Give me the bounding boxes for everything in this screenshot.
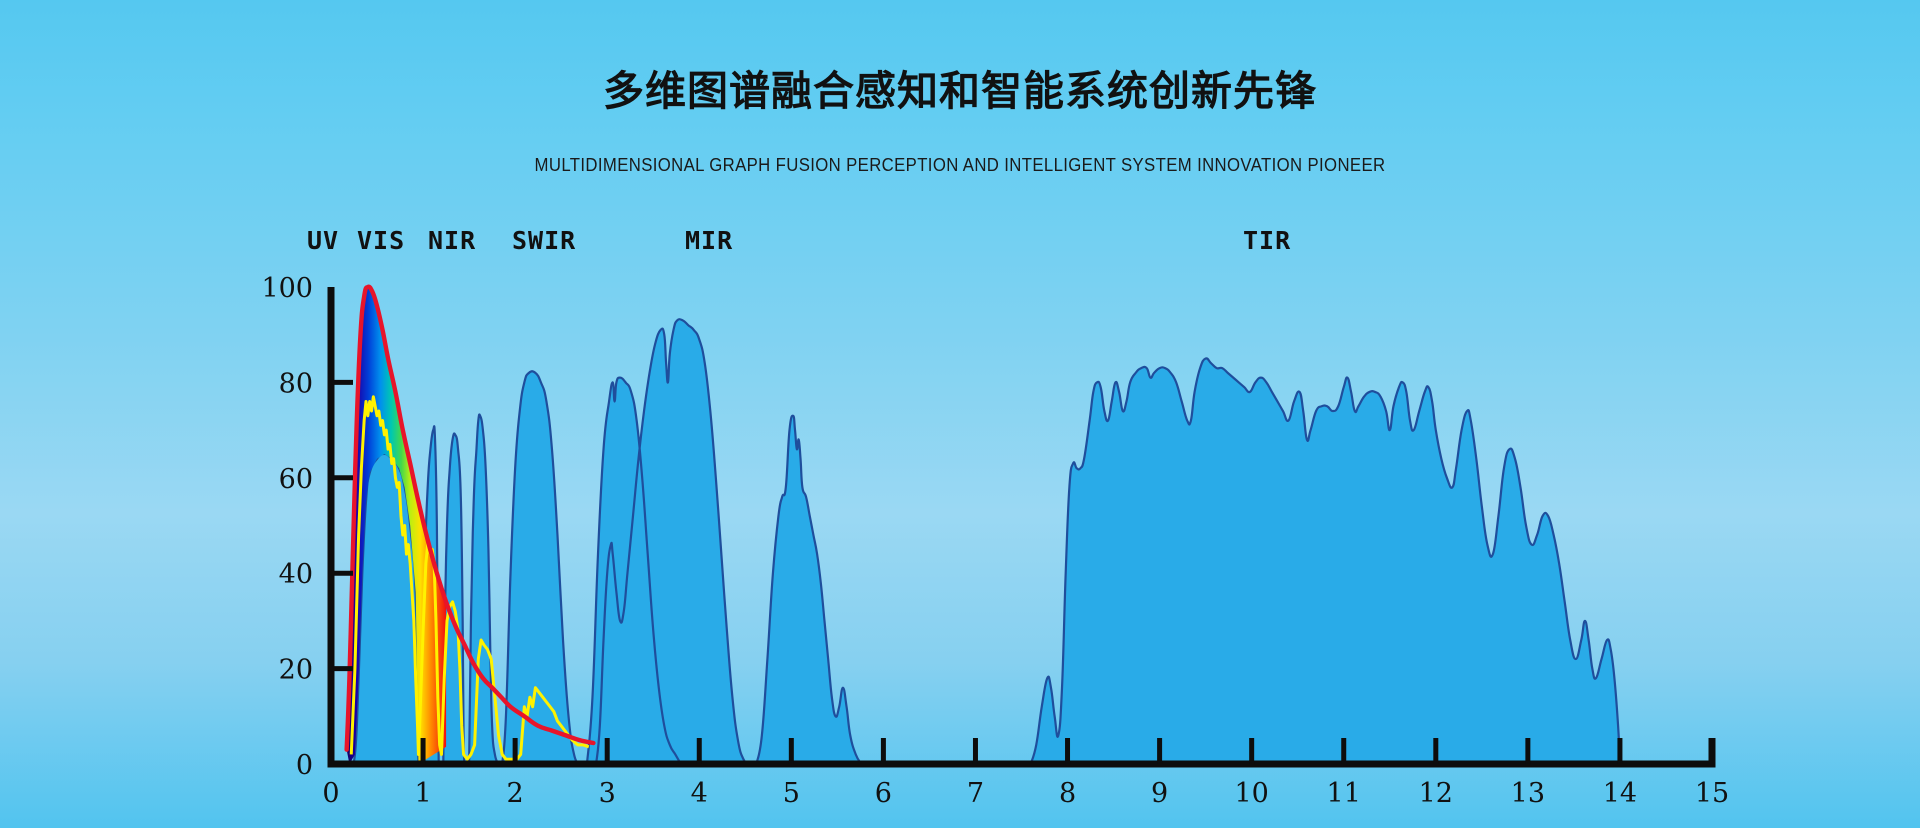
- x-tick-label: 0: [322, 778, 339, 809]
- x-tick-label: 1: [414, 778, 431, 809]
- x-tick-label: 6: [875, 778, 892, 809]
- y-tick-label: 80: [279, 368, 313, 399]
- chart-plot-area: [347, 277, 1620, 774]
- y-tick-label: 20: [279, 655, 313, 686]
- x-tick-label: 4: [691, 778, 708, 809]
- x-tick-label: 12: [1419, 778, 1453, 809]
- x-tick-label: 9: [1151, 778, 1168, 809]
- y-tick-label: 0: [296, 750, 313, 781]
- series-atmospheric-transmittance: [349, 319, 1620, 765]
- y-tick-label: 60: [279, 464, 313, 495]
- x-tick-label: 15: [1695, 778, 1729, 809]
- x-tick-label: 14: [1603, 778, 1637, 809]
- x-tick-label: 11: [1327, 778, 1361, 809]
- spectrum-chart: 0204060801000123456789101112131415: [0, 0, 1920, 828]
- x-tick-label: 10: [1234, 778, 1268, 809]
- y-tick-label: 100: [261, 273, 313, 304]
- x-tick-label: 13: [1511, 778, 1545, 809]
- x-tick-label: 5: [783, 778, 800, 809]
- x-tick-label: 2: [507, 778, 524, 809]
- x-tick-label: 3: [599, 778, 616, 809]
- x-tick-label: 7: [967, 778, 984, 809]
- poster-root: 多维图谱融合感知和智能系统创新先锋 MULTIDIMENSIONAL GRAPH…: [0, 0, 1920, 828]
- y-tick-label: 40: [279, 559, 313, 590]
- x-tick-label: 8: [1059, 778, 1076, 809]
